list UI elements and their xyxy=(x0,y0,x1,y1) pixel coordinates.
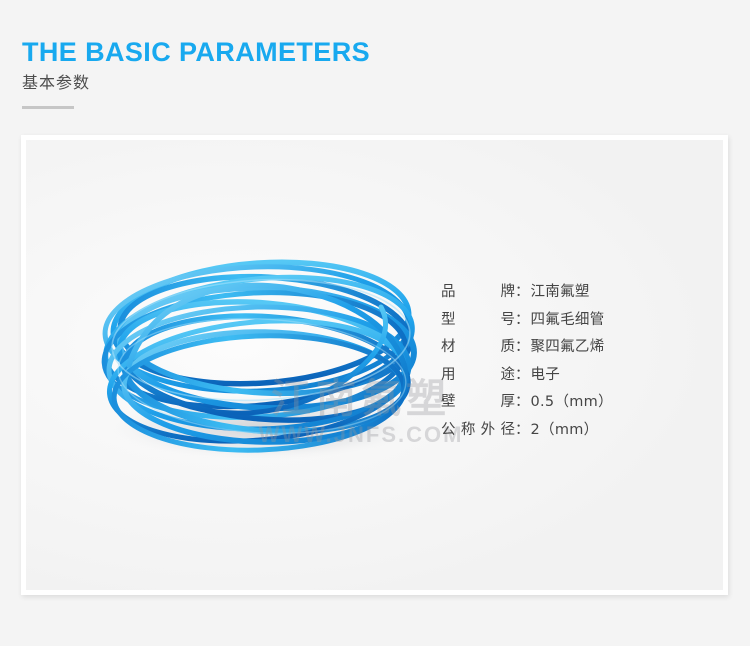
spec-row-brand: 品 牌 ： 江南氟塑 xyxy=(441,285,701,300)
spec-row-material: 材 质 ： 聚四氟乙烯 xyxy=(441,340,701,355)
spec-label-wall-thickness: 壁 厚 xyxy=(441,395,515,410)
product-photo-tubing-coil xyxy=(81,245,441,475)
title-divider xyxy=(22,106,74,109)
page-subtitle: 基本参数 xyxy=(22,73,622,92)
spec-row-model: 型 号 ： 四氟毛细管 xyxy=(441,313,701,328)
spec-colon-brand: ： xyxy=(515,285,530,300)
spec-label-brand: 品 牌 xyxy=(441,285,515,300)
spec-value-outer-diameter: 2（mm） xyxy=(531,423,599,438)
spec-colon-wall-thickness: ： xyxy=(515,395,530,410)
spec-colon-model: ： xyxy=(515,313,530,328)
panel-background: 江南氟塑 WWW.JNFS.COM 品 牌 ： 江南氟塑 型 号 ： 四氟毛细管… xyxy=(26,140,723,590)
spec-colon-outer-diameter: ： xyxy=(515,423,530,438)
spec-label-usage: 用 途 xyxy=(441,368,515,383)
section-header: THE BASIC PARAMETERS 基本参数 xyxy=(22,38,622,109)
spec-label-outer-diameter: 公称外径 xyxy=(441,423,515,438)
spec-value-wall-thickness: 0.5（mm） xyxy=(531,395,613,410)
spec-value-brand: 江南氟塑 xyxy=(531,285,590,300)
spec-value-usage: 电子 xyxy=(531,368,561,383)
spec-label-material: 材 质 xyxy=(441,340,515,355)
spec-list: 品 牌 ： 江南氟塑 型 号 ： 四氟毛细管 材 质 ： 聚四氟乙烯 用 途 ：… xyxy=(441,285,701,450)
spec-value-material: 聚四氟乙烯 xyxy=(531,340,605,355)
tubing-coil-illustration xyxy=(81,245,441,475)
spec-colon-material: ： xyxy=(515,340,530,355)
page-title: THE BASIC PARAMETERS xyxy=(22,38,622,66)
spec-row-usage: 用 途 ： 电子 xyxy=(441,368,701,383)
spec-colon-usage: ： xyxy=(515,368,530,383)
content-panel: 江南氟塑 WWW.JNFS.COM 品 牌 ： 江南氟塑 型 号 ： 四氟毛细管… xyxy=(21,135,728,595)
spec-row-outer-diameter: 公称外径 ： 2（mm） xyxy=(441,423,701,438)
spec-label-model: 型 号 xyxy=(441,313,515,328)
spec-value-model: 四氟毛细管 xyxy=(531,313,605,328)
spec-row-wall-thickness: 壁 厚 ： 0.5（mm） xyxy=(441,395,701,410)
page-root: { "header": { "title": "THE BASIC PARAME… xyxy=(0,0,750,646)
